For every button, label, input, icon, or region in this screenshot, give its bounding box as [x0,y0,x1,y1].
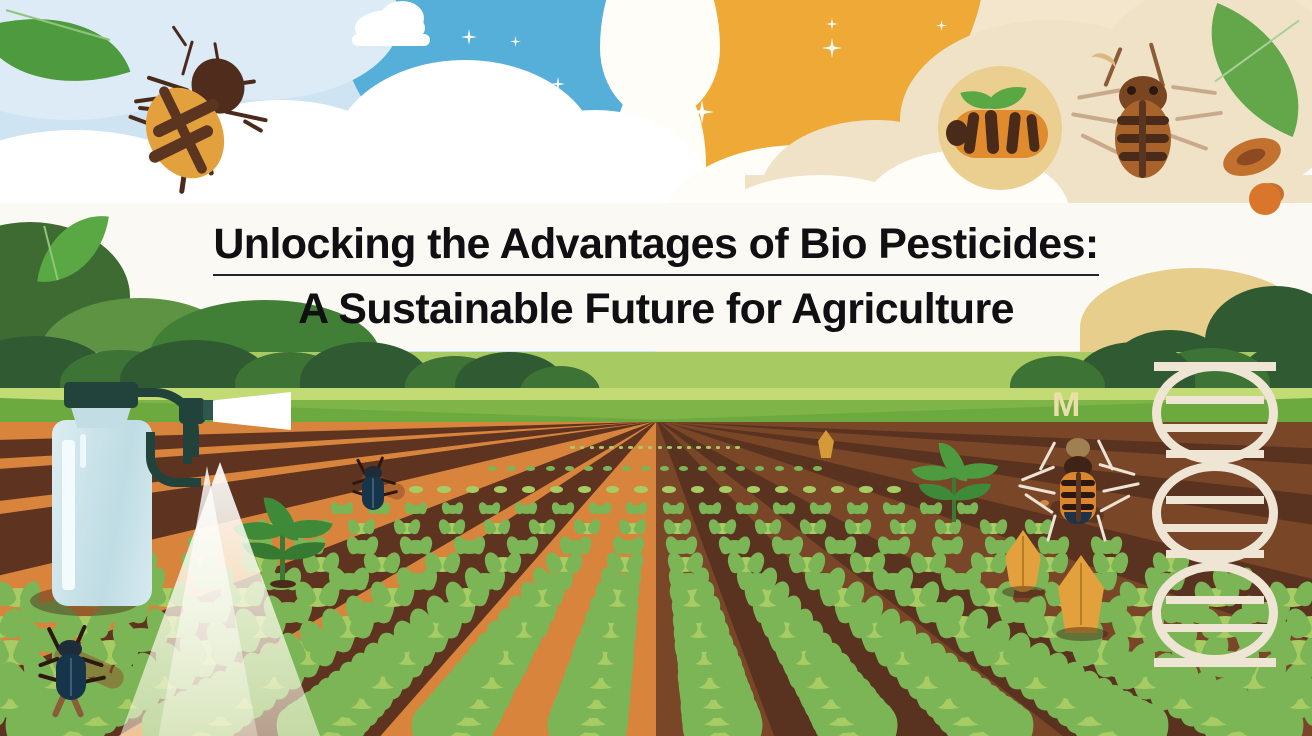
bottle-highlight-2 [80,434,86,468]
dna-rung [1154,658,1276,667]
title-line-1: Unlocking the Advantages of Bio Pesticid… [213,223,1098,276]
golden-leaf-shadow [1002,586,1046,598]
bottle-highlight [62,440,75,590]
dna-helix-icon [1152,362,1278,668]
cloud-left-small-2 [380,1,424,35]
dna-rung [1166,396,1264,404]
golden-leaf-b [1058,555,1104,633]
dna-rung [1166,496,1264,504]
dna-rung [1162,524,1268,532]
beetle-soil-bottom-left [38,622,118,714]
dna-rung [1162,624,1268,632]
crop-plant [735,446,740,448]
dna-rung [1162,424,1268,432]
dna-rung [1154,362,1276,371]
crop-plant [887,486,900,493]
beetle-soil-left [350,452,406,514]
title-line-2: A Sustainable Future for Agriculture [298,288,1014,332]
spray-nozzle-head [179,398,205,424]
badge-larva-head [946,120,968,146]
seedling-right [910,442,1000,530]
crop-plant [813,466,822,471]
golden-leaf-a [1005,530,1041,592]
dna-rung [1166,450,1264,458]
dna-rung [1166,596,1264,604]
banner-image: Unlocking the Advantages of Bio Pesticid… [0,0,1312,736]
page-title: Unlocking the Advantages of Bio Pesticid… [0,203,1312,351]
golden-leaf-shadow [1056,627,1108,641]
bee-top-left-icon [120,20,270,200]
dna-rung [1166,550,1264,558]
golden-sprout-far [818,430,834,458]
cloud-left-small-base [352,34,430,46]
